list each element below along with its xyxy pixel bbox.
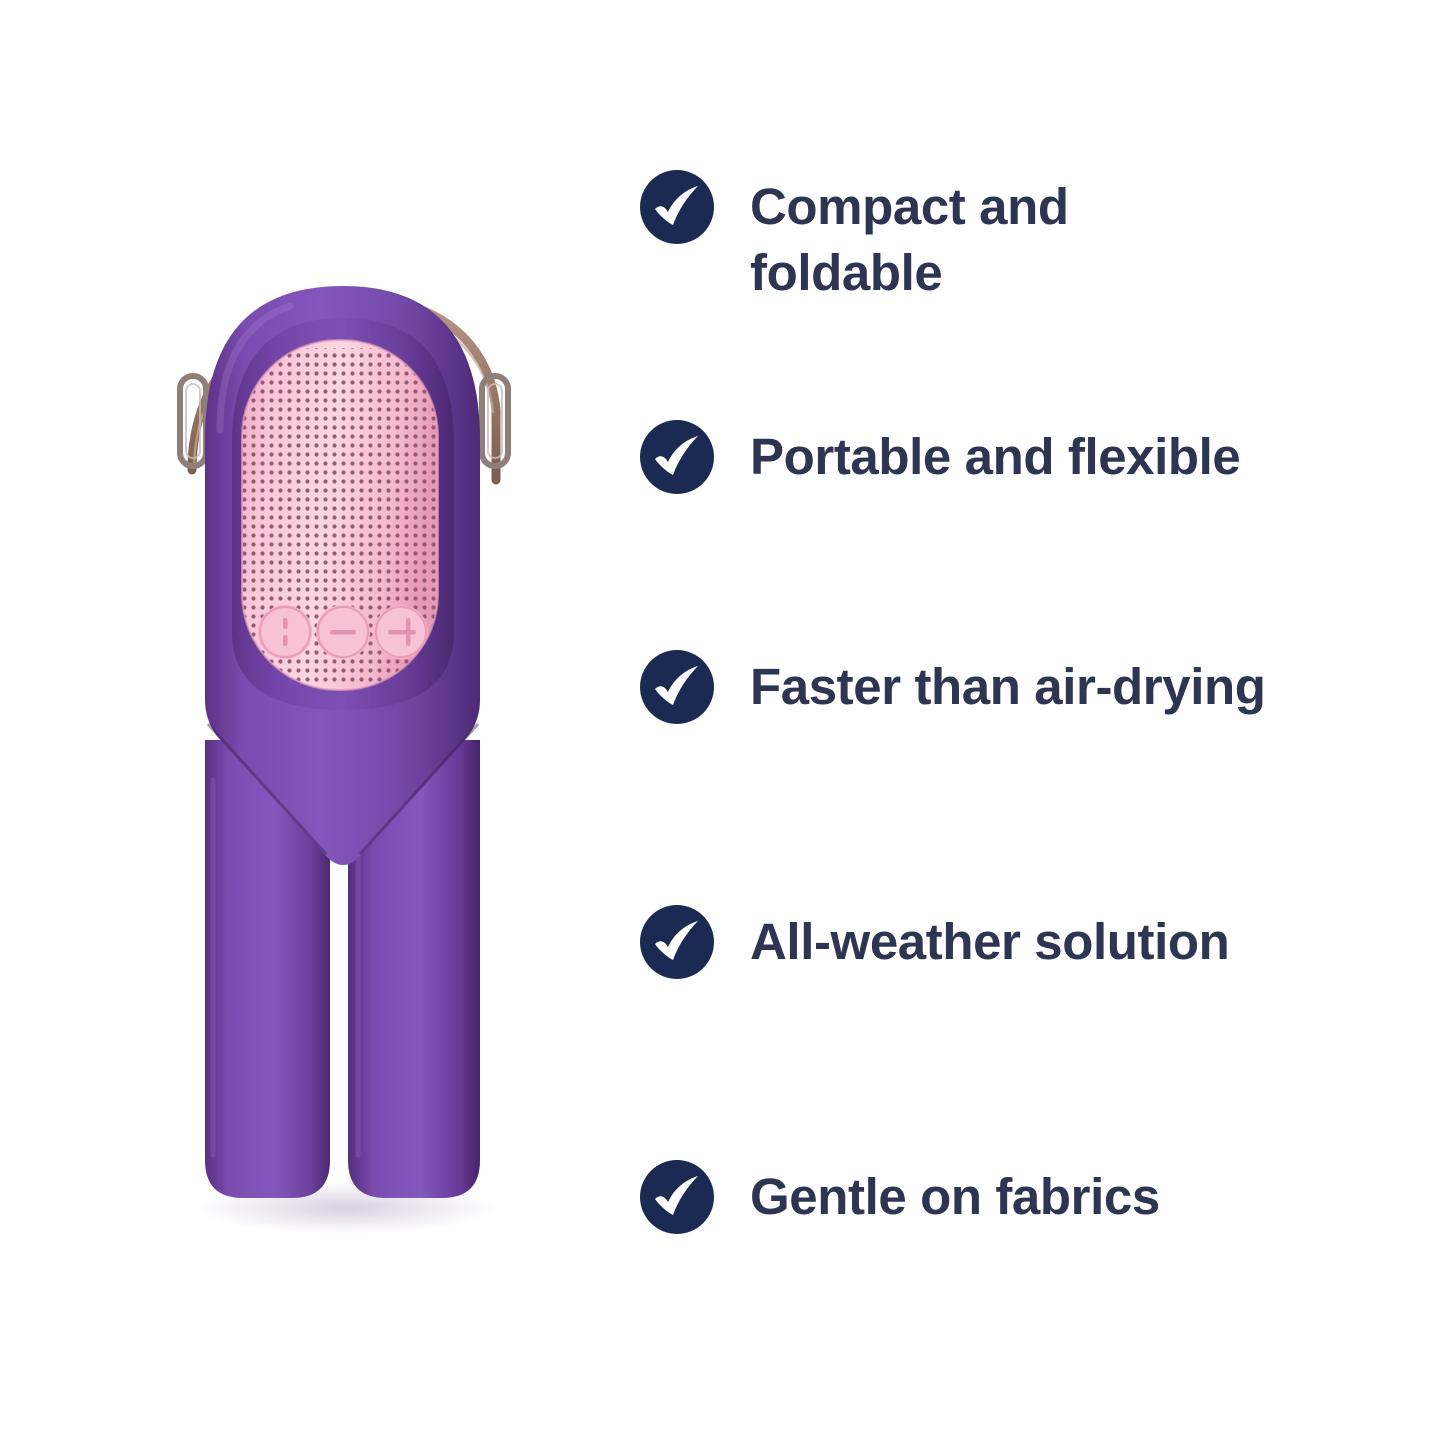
feature-label: All-weather solution — [750, 905, 1229, 975]
minus-button[interactable] — [318, 607, 368, 657]
check-circle-icon — [640, 420, 714, 494]
feature-label: Gentle on fabrics — [750, 1160, 1160, 1230]
check-circle-icon — [640, 1160, 714, 1234]
feature-label: Portable and flexible — [750, 420, 1240, 490]
feature-label: Compact and foldable — [750, 170, 1069, 307]
feature-item: Portable and flexible — [640, 420, 1430, 494]
feature-item: Compact and foldable — [640, 170, 1430, 307]
control-buttons[interactable] — [260, 607, 426, 657]
check-circle-icon — [640, 170, 714, 244]
feature-item: Faster than air-drying — [640, 650, 1430, 724]
plus-button[interactable] — [376, 607, 426, 657]
feature-item: Gentle on fabrics — [640, 1160, 1430, 1234]
check-circle-icon — [640, 905, 714, 979]
feature-item: All-weather solution — [640, 905, 1430, 979]
check-circle-icon — [640, 650, 714, 724]
product-feature-infographic: Compact and foldable Portable and flexib… — [0, 0, 1445, 1445]
feature-list: Compact and foldable Portable and flexib… — [640, 120, 1430, 1280]
product-illustration — [150, 180, 550, 1240]
power-button[interactable] — [260, 607, 310, 657]
product-image — [150, 180, 550, 1240]
feature-label: Faster than air-drying — [750, 650, 1265, 720]
